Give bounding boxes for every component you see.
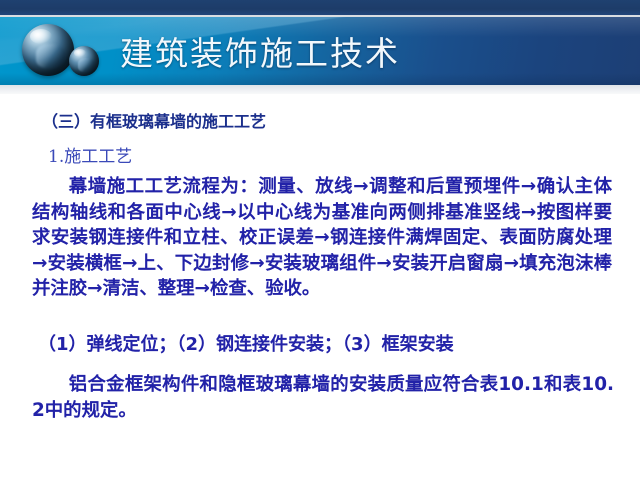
presentation-slide: 建筑装饰施工技术 （三）有框玻璃幕墙的施工工艺 1.施工工艺 幕墙施工工艺流程为… [0,0,640,480]
slide-title: 建筑装饰施工技术 [120,17,400,85]
chrome-spheres-logo [16,22,116,82]
quality-standard-paragraph: 铝合金框架构件和隐框玻璃幕墙的安装质量应符合表10.1和表10.2中的规定。 [32,372,614,423]
section-heading: （三）有框玻璃幕墙的施工工艺 [42,108,266,132]
header-divider-strip [0,85,640,94]
large-sphere-icon [22,24,74,76]
slide-content-area: （三）有框玻璃幕墙的施工工艺 1.施工工艺 幕墙施工工艺流程为：测量、放线→调整… [0,94,640,480]
small-sphere-icon [69,46,99,76]
numbered-items-line: （1）弹线定位；（2）钢连接件安装；（3）框架安装 [38,332,628,357]
slide-top-strip [0,0,640,15]
subsection-heading: 1.施工工艺 [48,142,132,167]
process-flow-paragraph: 幕墙施工工艺流程为：测量、放线→调整和后置预埋件→确认主体结构轴线和各面中心线→… [32,174,612,302]
